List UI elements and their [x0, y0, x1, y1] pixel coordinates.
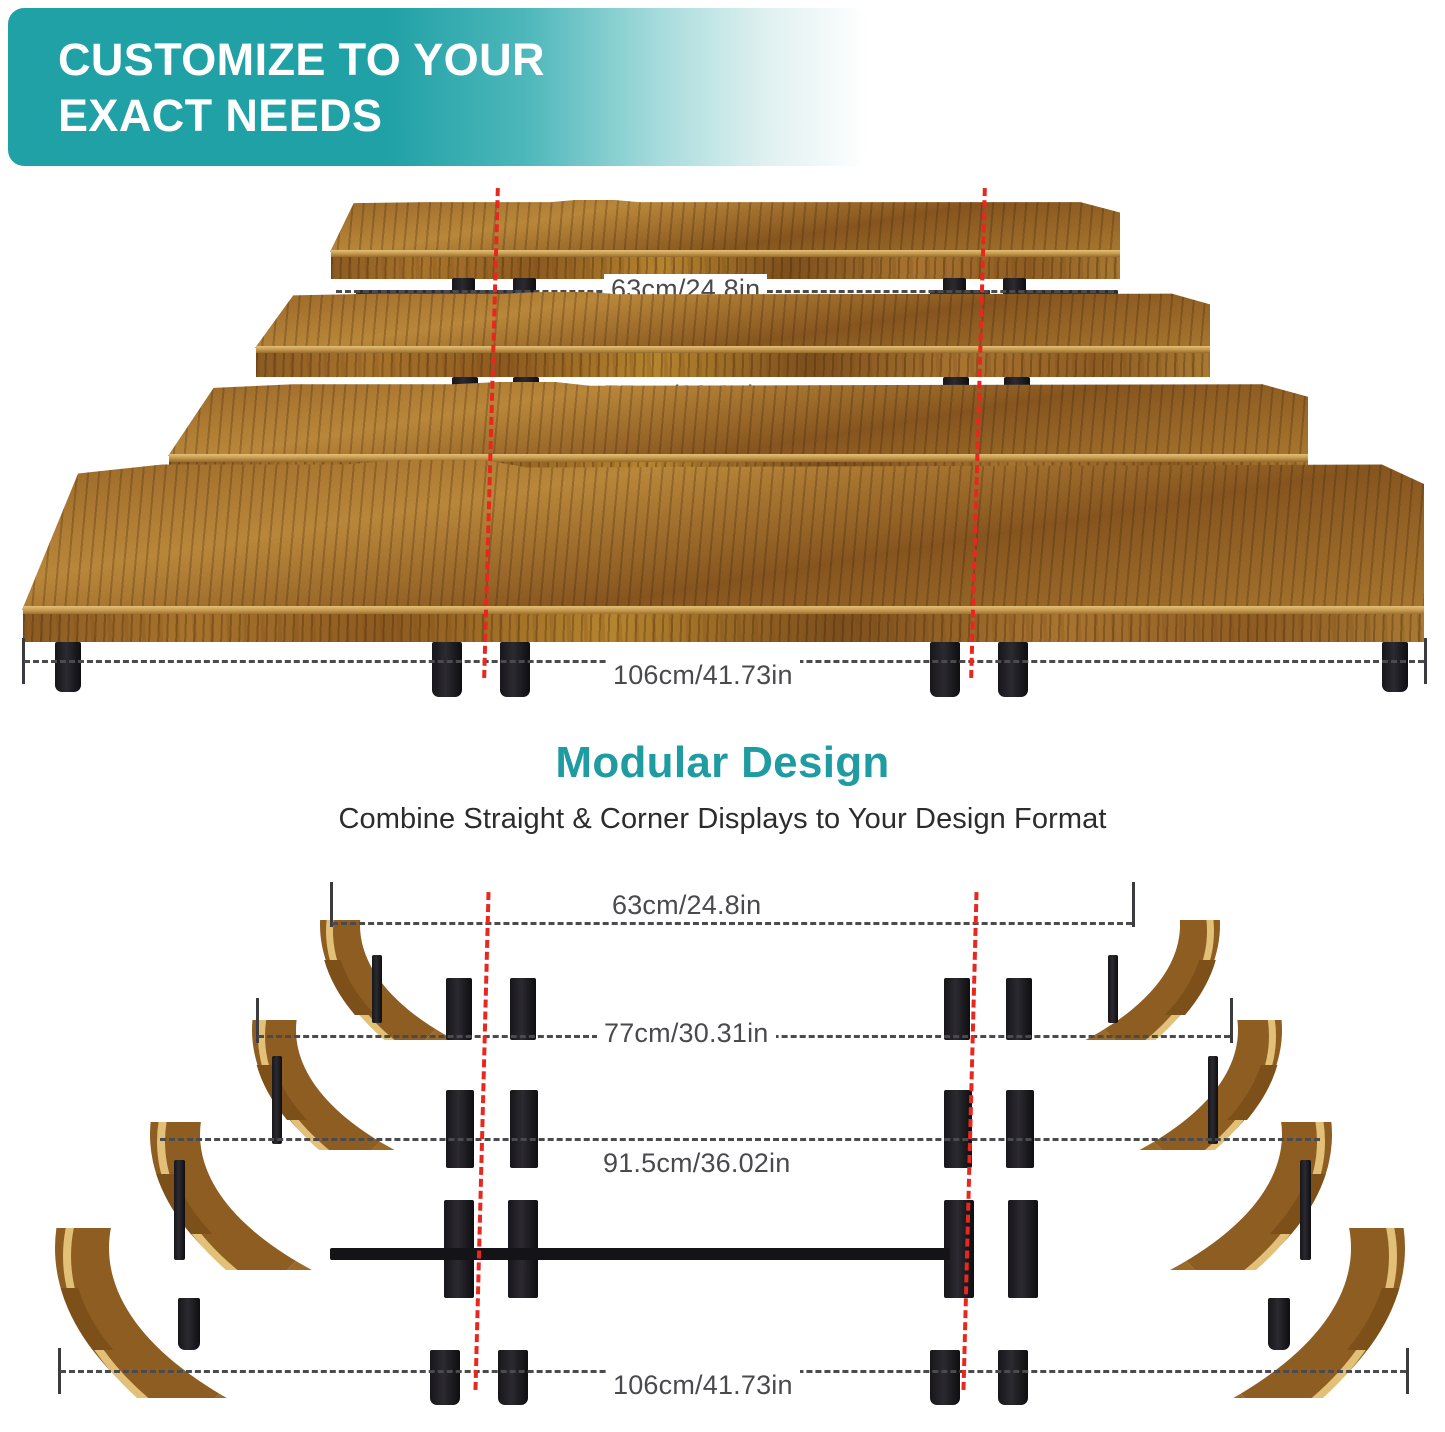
tier4-leg-mid-c — [930, 642, 960, 697]
c-tier4-edge — [55, 1288, 1405, 1350]
c-tier4-leg-b — [430, 1350, 460, 1405]
c-tier1-dimension-label: 63cm/24.8in — [605, 890, 768, 921]
tier4-leg-far-right — [1382, 642, 1408, 692]
straight-display-diagram: 63cm/24.8in 77cm/30.31in 91.5cm/36.02in — [0, 0, 1445, 710]
c-tier3-shelf-edge-wrap — [150, 1174, 1332, 1234]
c-tier3-edge — [150, 1174, 1332, 1234]
tier4-shelf-top — [22, 460, 1424, 610]
c-tier2-shelf-edge-wrap — [252, 1065, 1282, 1120]
tier4-dimension-tick-right — [1424, 638, 1427, 684]
tier4-leg-mid-d — [998, 642, 1028, 697]
c-tier1-dimension-line — [332, 922, 1132, 925]
c-tier4-tick-right — [1406, 1348, 1409, 1394]
c-tier2-dimension-label: 77cm/30.31in — [597, 1018, 776, 1049]
c-tier3-dimension-label: 91.5cm/36.02in — [596, 1148, 797, 1179]
c-tier1-tick-left — [330, 882, 333, 927]
c-tier4-dimension-label: 106cm/41.73in — [606, 1370, 800, 1401]
tier2-shelf-top — [255, 292, 1210, 348]
tier3-shelf-top — [168, 382, 1308, 456]
product-infographic: CUSTOMIZE TO YOUR EXACT NEEDS 63cm/24.8i… — [0, 0, 1445, 1432]
tier4-leg-mid-a — [432, 642, 462, 697]
c-tier4-leg-e — [998, 1350, 1028, 1405]
modular-design-subheading: Combine Straight & Corner Displays to Yo… — [0, 803, 1445, 836]
c-tier4-shelf-edge-wrap — [55, 1288, 1405, 1350]
tier2-shelf-front — [256, 353, 1210, 377]
tier1-shelf-top — [330, 200, 1120, 252]
c-tier3-dimension-line — [160, 1138, 1320, 1141]
c-tier4-leg-a — [178, 1298, 200, 1350]
c-tier1-leg-a — [372, 955, 382, 1023]
tier4-shelf-front — [23, 614, 1424, 642]
c-tier4-leg-c — [498, 1350, 528, 1405]
tier4-dimension-label: 106cm/41.73in — [606, 660, 800, 691]
corner-display-diagram: 63cm/24.8in 77cm/30.31in — [0, 860, 1445, 1432]
c-tier2-tick-right — [1230, 998, 1233, 1043]
c-tier1-tick-right — [1132, 882, 1135, 927]
tier4-leg-mid-b — [500, 642, 530, 697]
tier4-leg-far-left — [55, 642, 81, 692]
c-tier2-edge — [252, 1065, 1282, 1120]
c-tier4-leg-f — [1268, 1298, 1290, 1350]
c-tier1-leg-f — [1108, 955, 1118, 1023]
modular-design-heading: Modular Design — [0, 738, 1445, 788]
c-tier4-leg-d — [930, 1350, 960, 1405]
